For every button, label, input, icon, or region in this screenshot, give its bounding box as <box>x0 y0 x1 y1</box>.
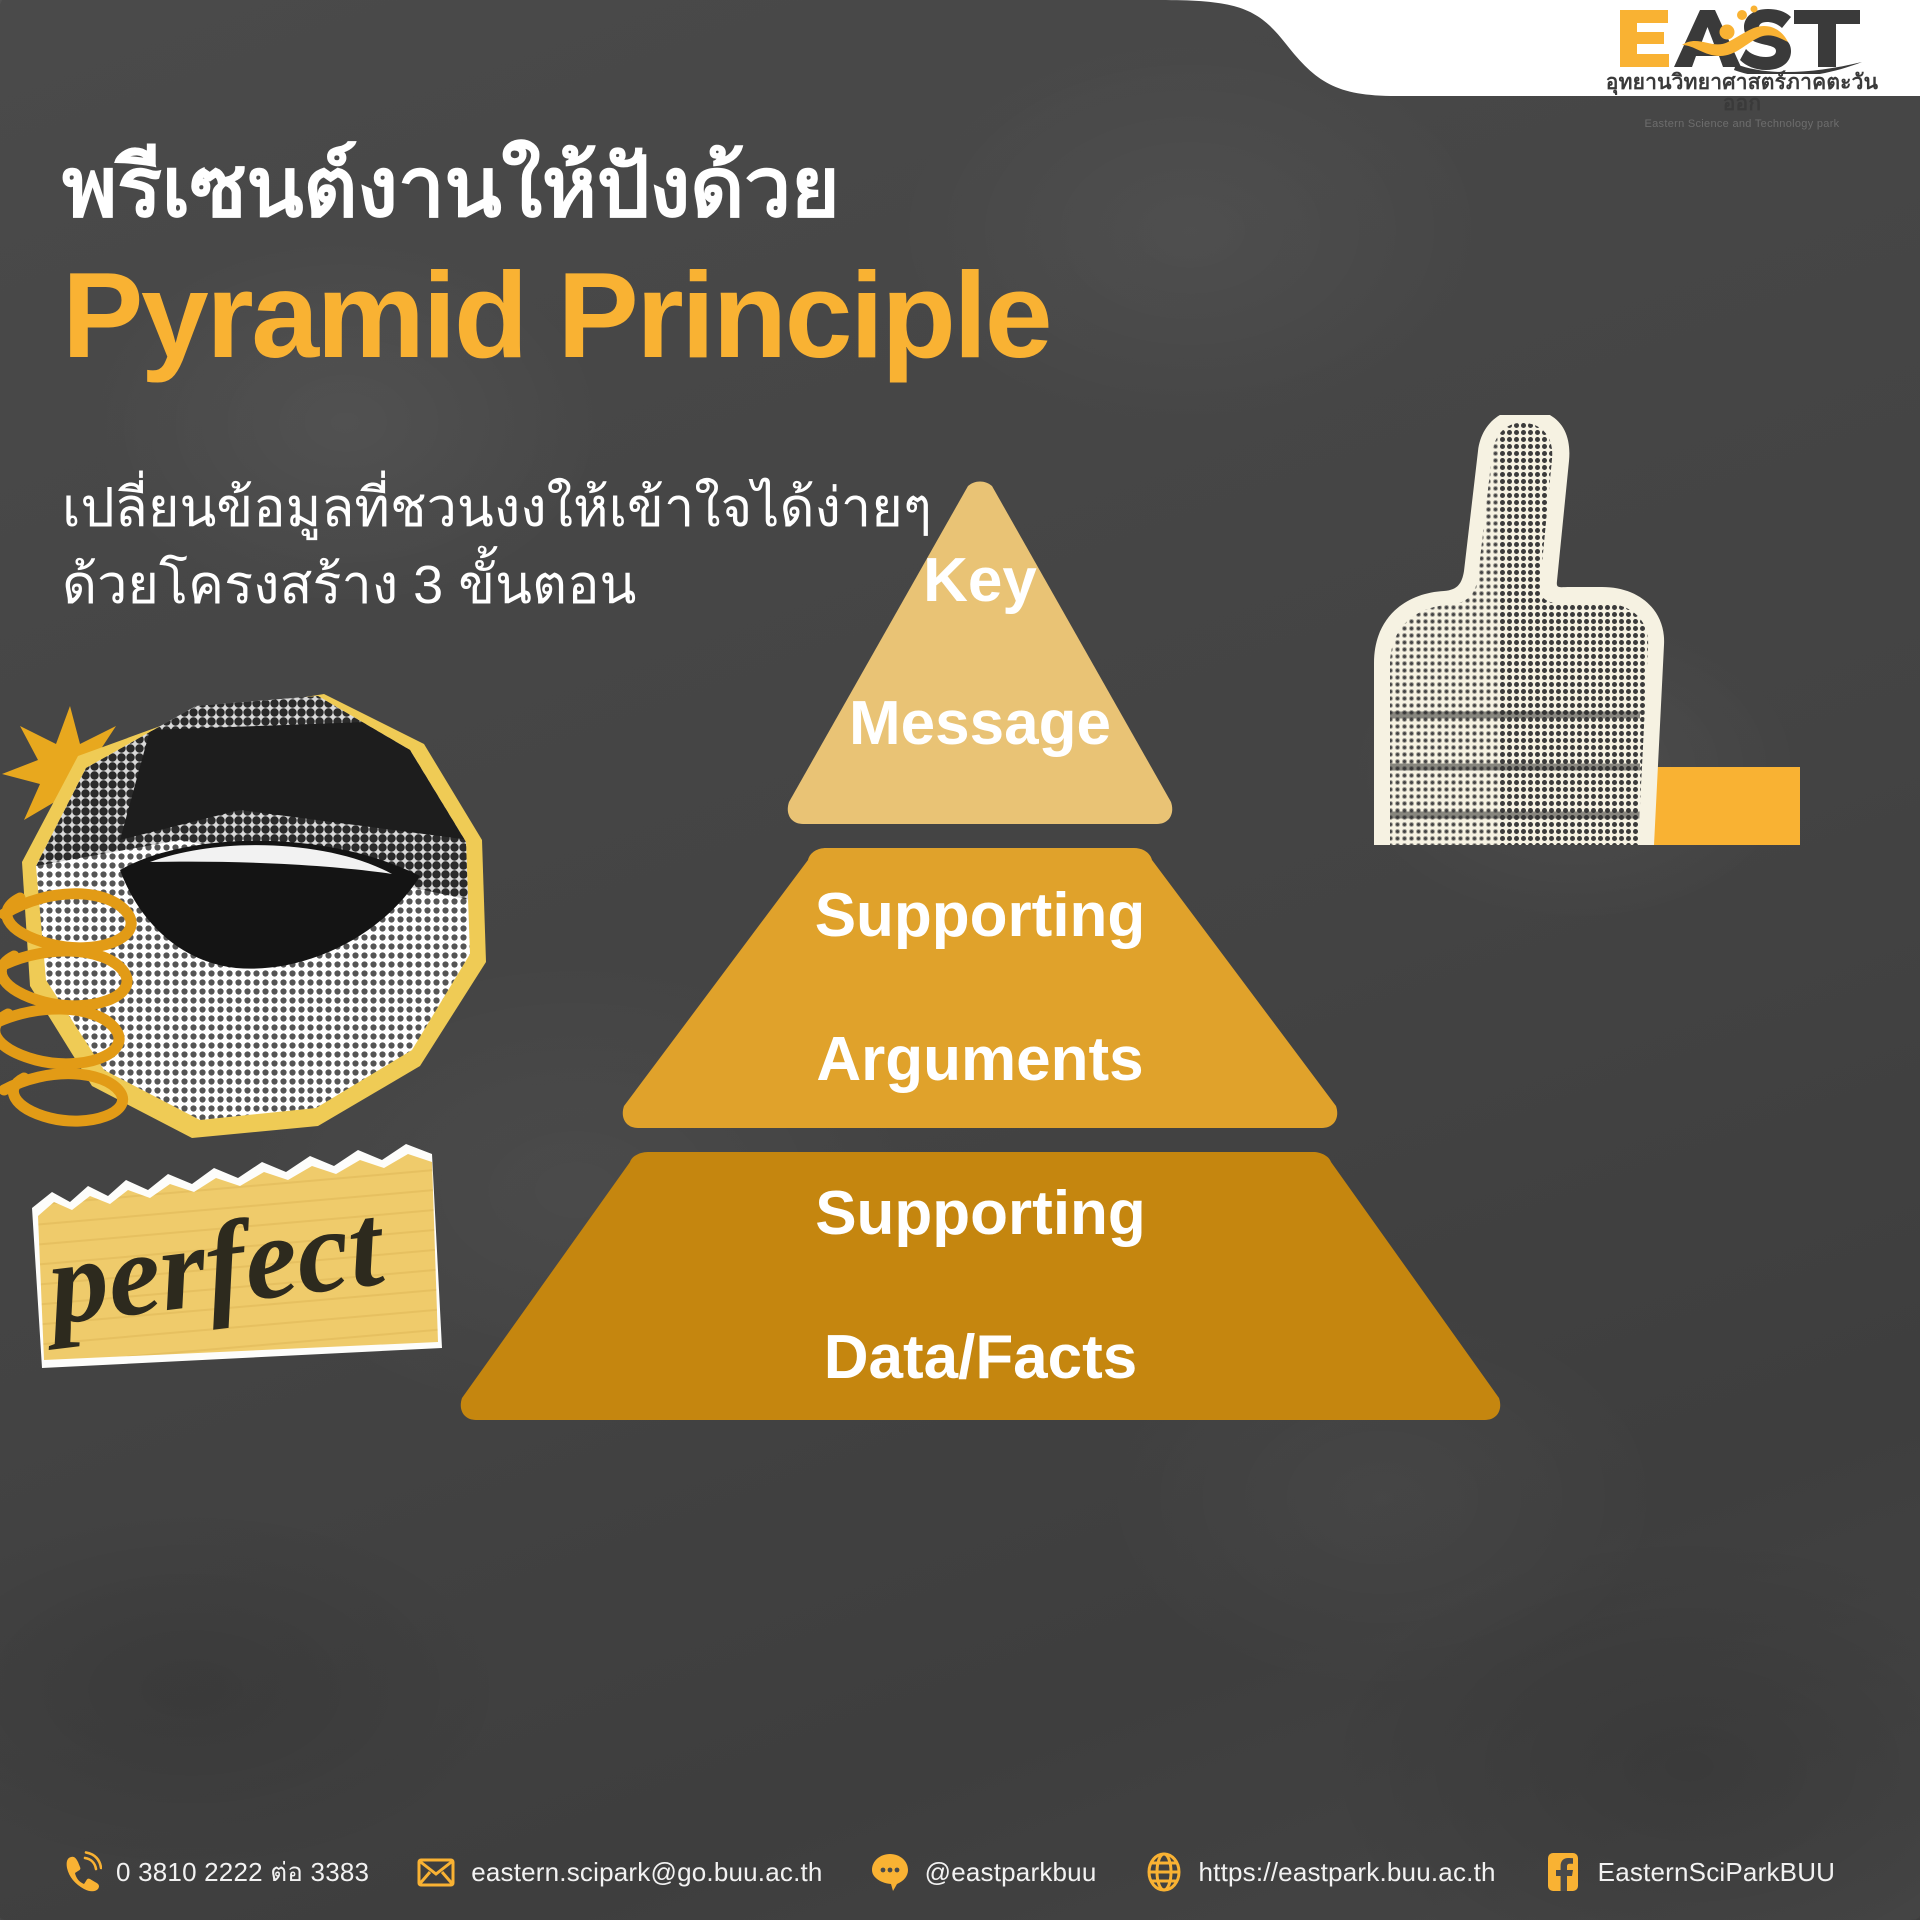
pyramid-tier-2-label: Supporting Arguments <box>815 880 1146 1096</box>
globe-icon <box>1143 1851 1185 1893</box>
poster-canvas: อุทยานวิทยาศาสตร์ภาคตะวันออก Eastern Sci… <box>0 0 1920 1920</box>
pyramid-tier-1-line-2: Message <box>849 688 1111 760</box>
pyramid-tier-1-label: Key Message <box>849 545 1111 761</box>
pyramid-tier-1-line-1: Key <box>849 545 1111 617</box>
pyramid-tier-2-line-2: Arguments <box>815 1024 1146 1096</box>
footer-phone-text: 0 3810 2222 ต่อ 3383 <box>116 1852 369 1893</box>
east-wordmark-icon <box>1616 4 1868 74</box>
footer-facebook-text: EasternSciParkBUU <box>1598 1857 1835 1888</box>
headline-english: Pyramid Principle <box>62 252 1362 379</box>
pyramid-tier-2-line-1: Supporting <box>815 880 1146 952</box>
pyramid-tier-supporting-arguments[interactable]: Supporting Arguments <box>620 848 1340 1128</box>
footer-website-text: https://eastpark.buu.ac.th <box>1199 1857 1496 1888</box>
footer-item-line[interactable]: @eastparkbuu <box>869 1851 1097 1893</box>
pyramid-tier-3-label: Supporting Data/Facts <box>815 1178 1146 1394</box>
facebook-icon <box>1542 1851 1584 1893</box>
footer-line-text: @eastparkbuu <box>925 1857 1097 1888</box>
pyramid-tier-3-line-2: Data/Facts <box>815 1322 1146 1394</box>
perfect-sticker: perfect <box>28 1128 448 1368</box>
footer-item-email[interactable]: eastern.scipark@go.buu.ac.th <box>415 1851 822 1893</box>
east-logo: อุทยานวิทยาศาสตร์ภาคตะวันออก Eastern Sci… <box>1592 4 1892 130</box>
footer-item-website[interactable]: https://eastpark.buu.ac.th <box>1143 1851 1496 1893</box>
pyramid-tier-3-line-1: Supporting <box>815 1178 1146 1250</box>
logo-english-name: Eastern Science and Technology park <box>1592 118 1892 130</box>
footer-email-text: eastern.scipark@go.buu.ac.th <box>471 1857 822 1888</box>
logo-thai-name: อุทยานวิทยาศาสตร์ภาคตะวันออก <box>1592 72 1892 114</box>
pyramid-tier-key-message[interactable]: Key Message <box>785 480 1175 825</box>
pyramid-tier-supporting-data-facts[interactable]: Supporting Data/Facts <box>458 1152 1503 1420</box>
scribble-doodle-icon <box>0 880 240 1150</box>
line-icon <box>869 1851 911 1893</box>
pyramid-diagram: Key Message Supporting Arguments Support… <box>450 480 1480 1420</box>
headline-thai: พรีเซนต์งานให้ปังด้วย <box>62 142 1262 233</box>
footer-item-phone[interactable]: 0 3810 2222 ต่อ 3383 <box>60 1851 369 1893</box>
email-icon <box>415 1851 457 1893</box>
logo-mark <box>1592 4 1892 74</box>
footer-contact-bar: 0 3810 2222 ต่อ 3383 eastern.scipark@go.… <box>0 1824 1920 1920</box>
footer-item-facebook[interactable]: EasternSciParkBUU <box>1542 1851 1835 1893</box>
phone-icon <box>60 1851 102 1893</box>
